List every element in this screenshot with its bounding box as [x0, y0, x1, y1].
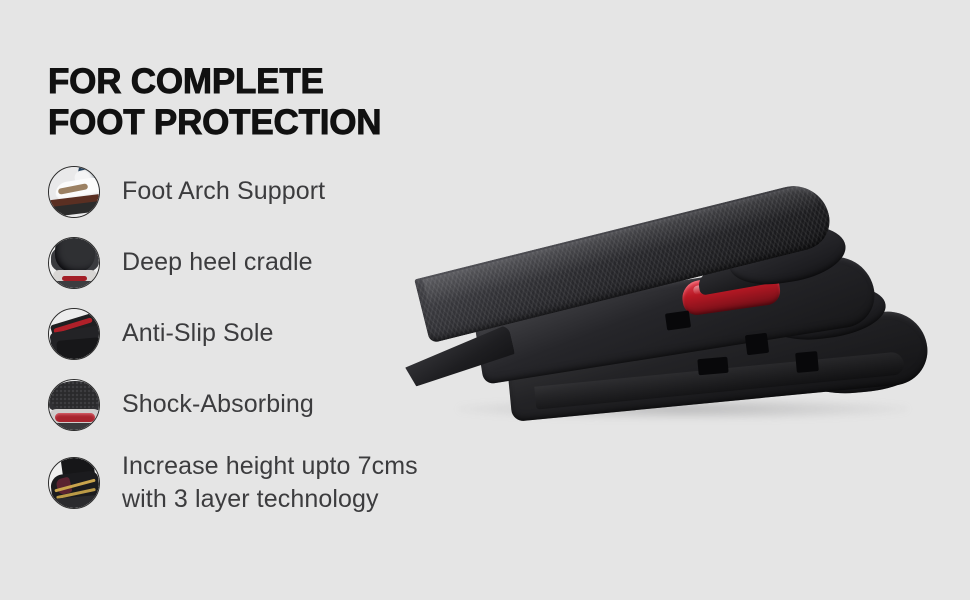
anti-slip-sole-icon: [48, 308, 100, 360]
layer-connector-stud: [665, 310, 691, 330]
feature-label: Anti-Slip Sole: [122, 317, 273, 351]
feature-label: Increase height upto 7cms with 3 layer t…: [122, 450, 418, 517]
list-item: Increase height upto 7cms with 3 layer t…: [48, 450, 478, 517]
feature-label: Foot Arch Support: [122, 175, 325, 209]
product-image: [398, 140, 958, 450]
height-boot-icon: [48, 457, 100, 509]
layer-connector-stud: [795, 351, 819, 373]
infographic-poster: FOR COMPLETE FOOT PROTECTION Foot Arch S…: [0, 0, 970, 600]
page-title: FOR COMPLETE FOOT PROTECTION: [48, 62, 478, 144]
layer-connector-stud: [697, 357, 728, 376]
shock-absorbing-pad-icon: [48, 379, 100, 431]
headline-line-1: FOR COMPLETE: [48, 62, 478, 103]
layer-connector-stud: [745, 333, 769, 356]
feature-label: Deep heel cradle: [122, 246, 313, 280]
headline-line-2: FOOT PROTECTION: [48, 103, 478, 144]
sneaker-arch-icon: [48, 166, 100, 218]
heel-cup-icon: [48, 237, 100, 289]
feature-label: Shock-Absorbing: [122, 388, 314, 422]
